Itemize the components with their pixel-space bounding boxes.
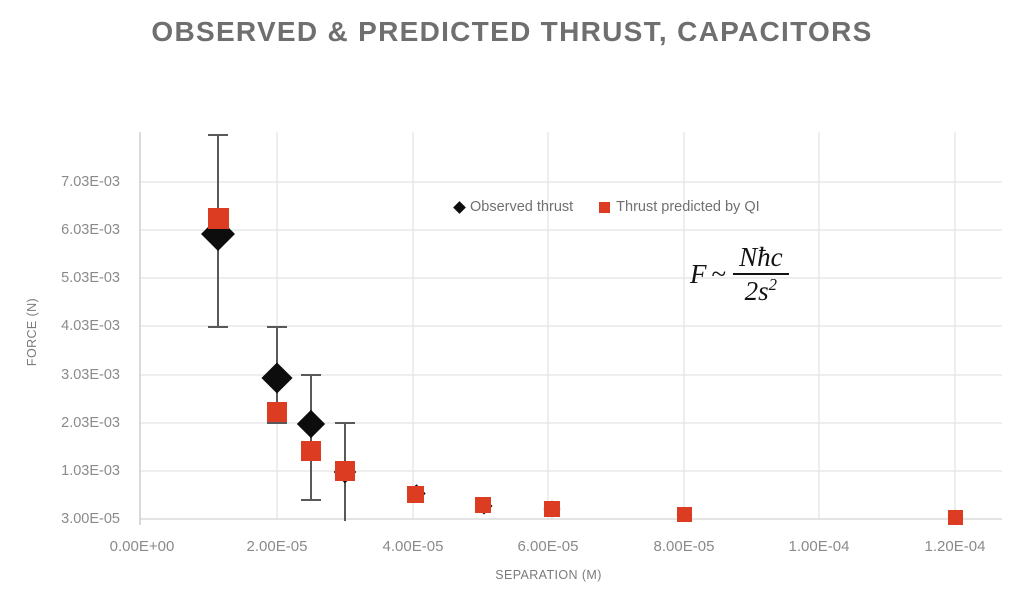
legend-entry-observed-thrust[interactable]: Observed thrust [455, 199, 573, 215]
formula-denominator-exponent: 2 [769, 275, 777, 294]
diamond-marker-icon [453, 201, 466, 214]
formula-relation: ~ [712, 259, 727, 290]
series-observed-thrust [201, 217, 963, 525]
legend-label: Thrust predicted by QI [616, 199, 759, 215]
formula-numerator: Nħc [733, 243, 789, 273]
chart-legend: Observed thrust Thrust predicted by QI [455, 199, 760, 215]
series-thrust-predicted-by-qi [208, 208, 963, 525]
formula-lhs: F [690, 259, 707, 290]
chart-container: OBSERVED & PREDICTED THRUST, CAPACITORS … [0, 0, 1024, 614]
formula-fraction: Nħc 2s2 [733, 243, 789, 305]
plot-area [0, 0, 1024, 614]
formula-denominator: 2s2 [739, 275, 783, 306]
legend-entry-thrust-predicted-by-qi[interactable]: Thrust predicted by QI [599, 199, 759, 215]
gridlines [140, 132, 1002, 519]
square-marker-icon [599, 202, 610, 213]
formula-annotation: F ~ Nħc 2s2 [690, 243, 789, 305]
error-bars [208, 135, 355, 521]
legend-label: Observed thrust [470, 199, 573, 215]
formula-denominator-base: 2s [745, 276, 769, 306]
